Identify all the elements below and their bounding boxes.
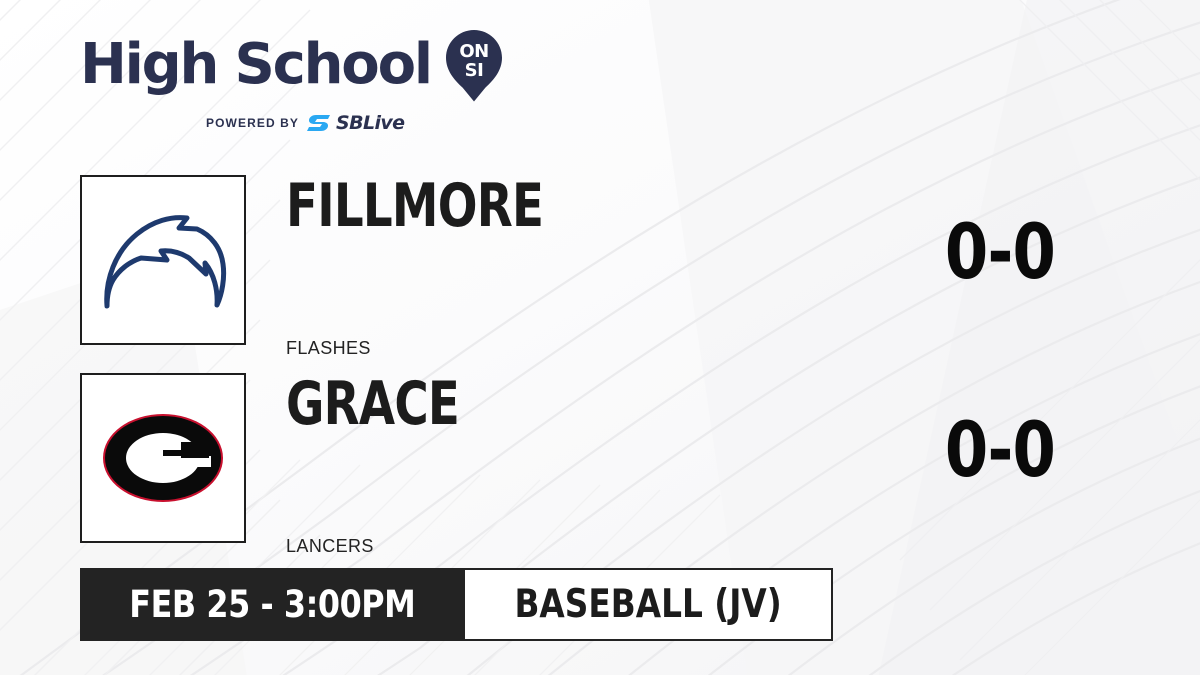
team-2-name: GRACE (286, 373, 754, 435)
brand-wordmark: High School (80, 35, 431, 95)
sblive-logo: SBLive (307, 112, 404, 134)
lightning-bolt-icon (93, 208, 233, 312)
team-1-mascot: FLASHES (286, 338, 371, 359)
matchup-graphic: High School ON SI POWERED BY SBLive (0, 0, 1200, 675)
game-datetime-block: FEB 25 - 3:00PM (80, 568, 465, 641)
letter-g-oval-icon (101, 412, 225, 504)
team-1-score: 0-0 (902, 213, 1099, 291)
game-info-banner: FEB 25 - 3:00PM BASEBALL (JV) (80, 568, 833, 641)
svg-text:SI: SI (465, 60, 484, 81)
team-1-name: FILLMORE (286, 175, 754, 237)
on-si-pin-icon: ON SI (445, 29, 503, 103)
team-1-logo-box (80, 175, 246, 345)
svg-text:ON: ON (459, 41, 488, 62)
team-2-text: GRACE (286, 373, 886, 435)
team-2-score: 0-0 (902, 411, 1099, 489)
team-2-mascot: LANCERS (286, 536, 374, 557)
sblive-s-mark-icon (307, 113, 333, 133)
brand-lockup: High School ON SI POWERED BY SBLive (80, 32, 510, 136)
game-datetime-label: FEB 25 - 3:00PM (129, 586, 415, 624)
game-sport-block: BASEBALL (JV) (465, 568, 833, 641)
game-sport-label: BASEBALL (JV) (514, 585, 781, 625)
powered-by-label: POWERED BY (206, 116, 299, 130)
team-1-text: FILLMORE (286, 175, 886, 237)
team-2-logo-box (80, 373, 246, 543)
powered-by-row: POWERED BY SBLive (206, 112, 510, 134)
sblive-wordmark: SBLive (336, 112, 404, 134)
brand-row: High School ON SI (80, 32, 510, 98)
